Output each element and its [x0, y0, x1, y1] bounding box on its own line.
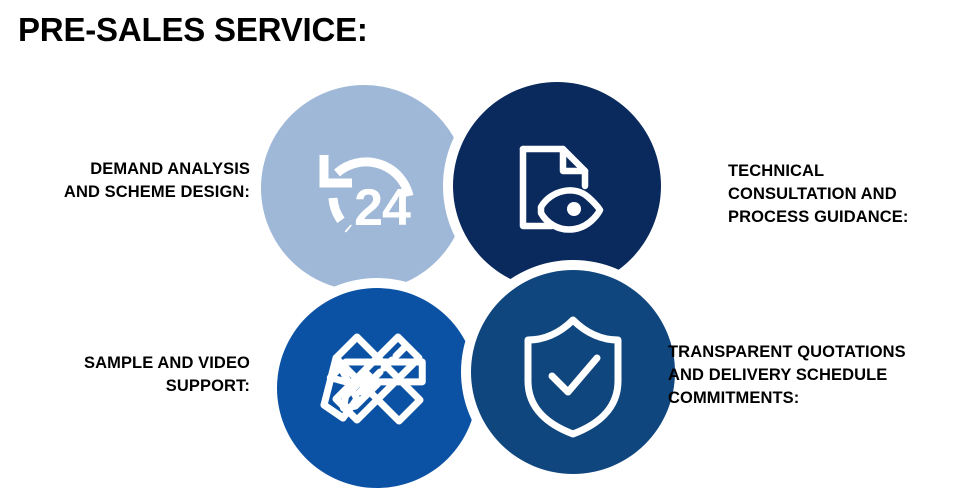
label-line: PROCESS GUIDANCE: [728, 206, 954, 229]
service-circle-cluster: 24 [0, 0, 960, 498]
icon-label-24: 24 [354, 179, 411, 237]
circle-shape-bottom-right [471, 270, 675, 474]
label-line: TRANSPARENT QUOTATIONS [668, 341, 960, 364]
segment-circle-demand-analysis[interactable]: 24 [261, 85, 467, 291]
segment-label-demand-analysis: DEMAND ANALYSIS AND SCHEME DESIGN: [10, 158, 250, 204]
segment-label-sample-video-support: SAMPLE AND VIDEO SUPPORT: [10, 352, 250, 398]
label-line: SUPPORT: [10, 375, 250, 398]
segment-circle-sample-video-support[interactable] [277, 288, 477, 488]
label-line: COMMITMENTS: [668, 387, 960, 410]
label-line: AND SCHEME DESIGN: [10, 181, 250, 204]
label-line: CONSULTATION AND [728, 183, 954, 206]
segment-circle-technical-consultation[interactable] [453, 82, 661, 290]
circle-shape-top-right [453, 82, 661, 290]
segment-label-transparent-quotations: TRANSPARENT QUOTATIONS AND DELIVERY SCHE… [668, 341, 960, 409]
segment-label-technical-consultation: TECHNICAL CONSULTATION AND PROCESS GUIDA… [728, 160, 954, 228]
segment-circle-transparent-quotations[interactable] [471, 270, 675, 474]
label-line: AND DELIVERY SCHEDULE [668, 364, 960, 387]
label-line: DEMAND ANALYSIS [10, 158, 250, 181]
label-line: TECHNICAL [728, 160, 954, 183]
label-line: SAMPLE AND VIDEO [10, 352, 250, 375]
